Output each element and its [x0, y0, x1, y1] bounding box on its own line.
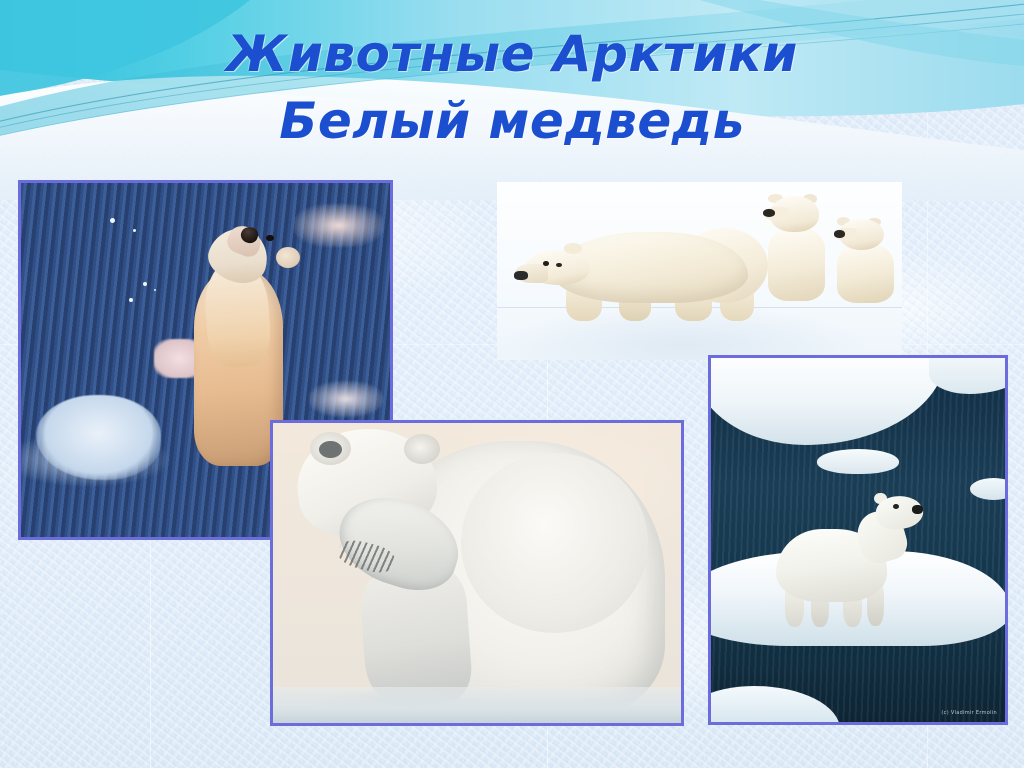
- bear-nose: [912, 505, 923, 514]
- photo-bear-family-image: [497, 182, 902, 360]
- bear-ear-1: [310, 432, 351, 465]
- photo-bear-sitting: [270, 420, 684, 726]
- photo-bear-icefloe-image: (c) Vladimir Ermolin: [711, 358, 1005, 722]
- cub-sitting-body: [837, 243, 894, 304]
- water-droplets-a: [143, 282, 147, 286]
- bear-ear: [276, 247, 300, 268]
- photo-watermark: (c) Vladimir Ermolin: [941, 710, 997, 716]
- presentation-slide: Животные Арктики Белый медведь: [0, 0, 1024, 768]
- bear-shoulder: [461, 453, 649, 633]
- header-banner-decoration: [0, 0, 1024, 200]
- cub-standing-nose: [763, 209, 775, 217]
- cub-standing-body: [768, 227, 825, 302]
- adult-bear-nose: [514, 271, 528, 280]
- photo-bear-sitting-image: [273, 423, 681, 723]
- snow-ground: [273, 687, 681, 723]
- photo-bear-icefloe: (c) Vladimir Ermolin: [708, 355, 1008, 725]
- adult-bear-eye-1: [543, 261, 549, 266]
- photo-bear-family: [497, 182, 902, 360]
- ice-chunk-far: [294, 204, 383, 246]
- adult-bear-eye-2: [556, 263, 562, 267]
- adult-bear-ear: [564, 243, 582, 254]
- ice-floe-small: [817, 449, 899, 474]
- bear-ear-2: [404, 434, 441, 464]
- ice-chunk-right: [309, 381, 383, 416]
- cub-sitting-nose: [834, 230, 845, 237]
